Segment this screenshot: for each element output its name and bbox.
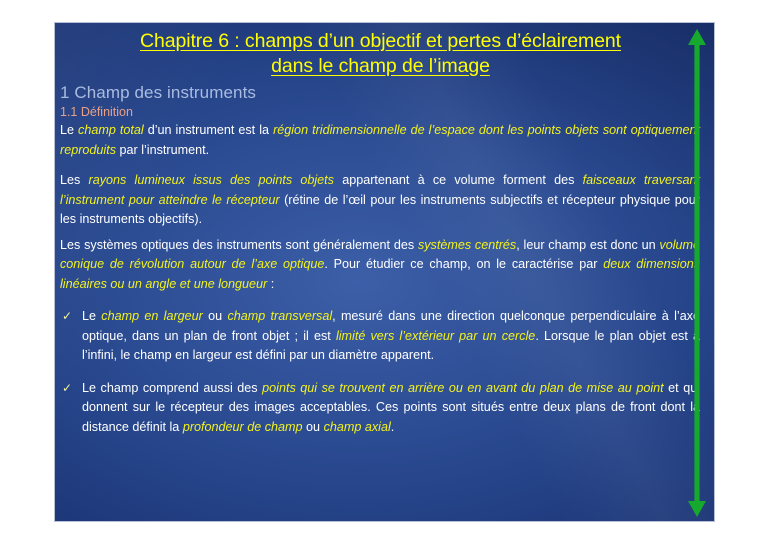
section-heading-1-1: 1.1 Définition bbox=[55, 104, 714, 121]
paragraph-rayons: Les rayons lumineux issus des points obj… bbox=[55, 171, 714, 230]
title-line-2: dans le champ de l’image bbox=[73, 54, 688, 79]
slide-content: Chapitre 6 : champs d’un objectif et per… bbox=[55, 23, 714, 521]
title-line-1-text: Chapitre 6 : champs d’un objectif et per… bbox=[140, 30, 621, 52]
page-title: Chapitre 6 : champs d’un objectif et per… bbox=[55, 23, 714, 79]
list-item-text: Le champ en largeur ou champ transversal… bbox=[82, 307, 700, 366]
list-item: ✓ Le champ comprend aussi des points qui… bbox=[55, 379, 714, 438]
check-bullet-icon: ✓ bbox=[60, 307, 82, 327]
list-item: ✓ Le champ en largeur ou champ transvers… bbox=[55, 307, 714, 366]
spacer bbox=[55, 366, 714, 379]
paragraph-systemes: Les systèmes optiques des instruments so… bbox=[55, 236, 714, 295]
title-line-2-text: dans le champ de l’image bbox=[271, 55, 490, 77]
spacer bbox=[55, 160, 714, 171]
section-heading-1: 1 Champ des instruments bbox=[55, 79, 714, 104]
spacer bbox=[55, 294, 714, 307]
list-item-text: Le champ comprend aussi des points qui s… bbox=[82, 379, 700, 438]
check-bullet-icon: ✓ bbox=[60, 379, 82, 399]
screenshot-canvas: Chapitre 6 : champs d’un objectif et per… bbox=[0, 0, 768, 543]
green-double-arrow-icon bbox=[686, 29, 708, 517]
title-line-1: Chapitre 6 : champs d’un objectif et per… bbox=[73, 29, 688, 54]
paragraph-definition: Le champ total d’un instrument est la ré… bbox=[55, 121, 714, 160]
presentation-slide: Chapitre 6 : champs d’un objectif et per… bbox=[54, 22, 715, 522]
